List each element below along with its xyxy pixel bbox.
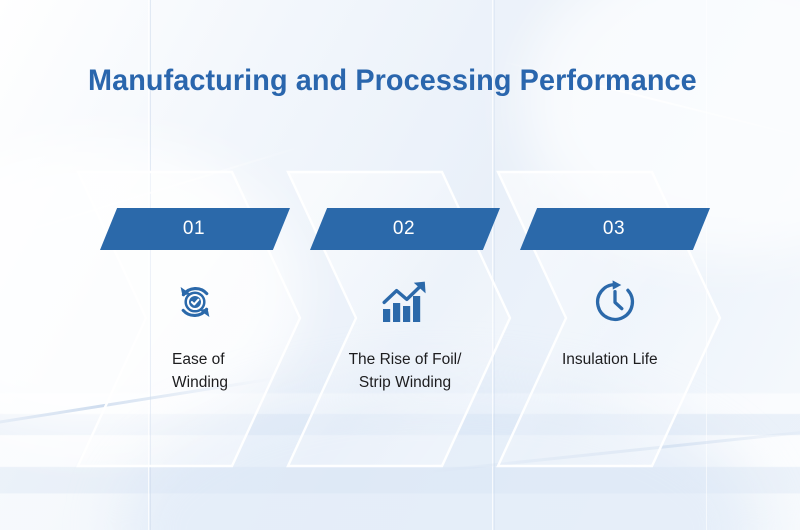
background-vertical-streak-5: [706, 0, 707, 530]
step-caption-2: The Rise of Foil/ Strip Winding: [305, 348, 505, 394]
clock-arrow-head: [613, 280, 622, 289]
step-caption-2-line2: Strip Winding: [305, 371, 505, 394]
step-column-3: 03 Insulation Life: [520, 208, 710, 250]
step-column-1: 01 Ease of Winding: [100, 208, 290, 250]
slide-canvas: Manufacturing and Processing Performance…: [0, 0, 800, 530]
step-banner-1[interactable]: 01: [100, 208, 290, 250]
step-caption-2-line1: The Rise of Foil/: [305, 348, 505, 371]
clock-hands: [615, 292, 622, 309]
step-number-1: 01: [183, 218, 205, 240]
step-icon-wrap-2: [310, 276, 500, 328]
step-icon-wrap-3: [520, 276, 710, 328]
step-banner-2[interactable]: 02: [310, 208, 500, 250]
step-caption-3-line1: Insulation Life: [562, 348, 762, 371]
clock-history-icon: [592, 279, 638, 325]
step-banner-3[interactable]: 03: [520, 208, 710, 250]
step-number-3: 03: [603, 218, 625, 240]
growth-bar-chart-icon: [380, 279, 430, 325]
step-column-2: 02 The Rise of Foil/ Strip Winding: [310, 208, 500, 250]
page-title: Manufacturing and Processing Performance: [88, 64, 697, 98]
refresh-check-icon: [171, 278, 219, 326]
step-caption-3: Insulation Life: [562, 348, 762, 371]
step-number-2: 02: [393, 218, 415, 240]
step-icon-wrap-1: [100, 276, 290, 328]
